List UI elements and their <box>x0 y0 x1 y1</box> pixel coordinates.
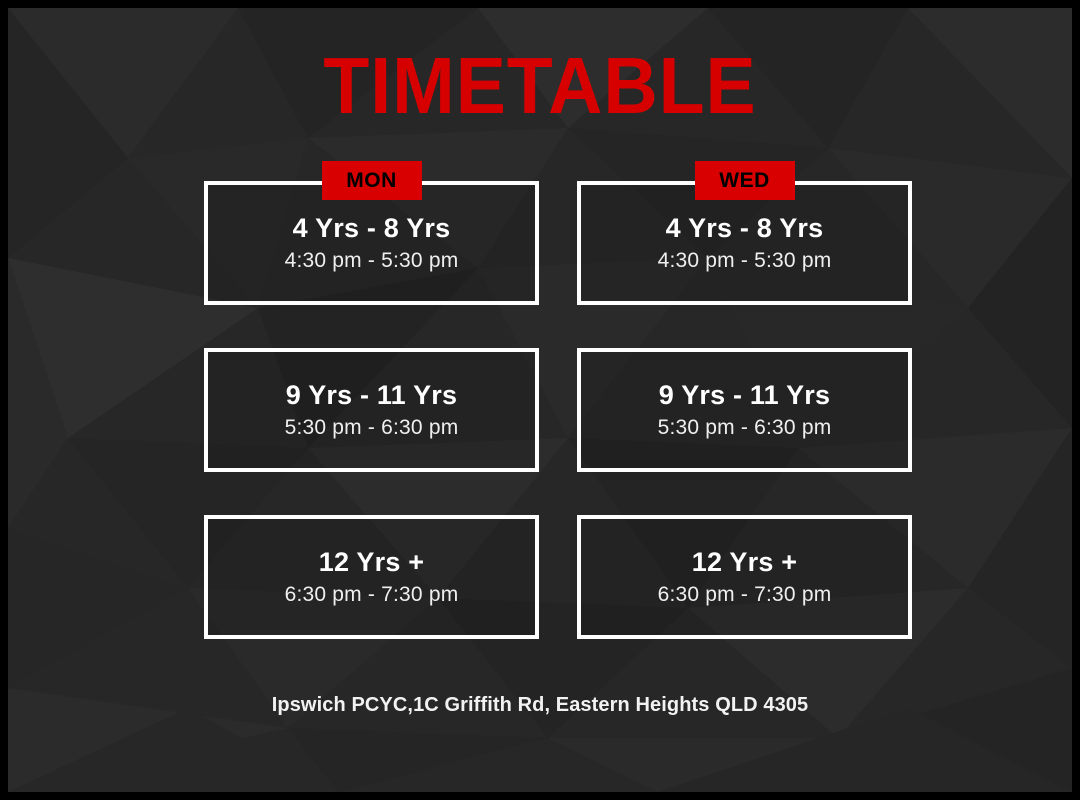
day-badge-mon: MON <box>322 161 422 200</box>
timetable-poster: TIMETABLE MON 4 Yrs - 8 Yrs 4:30 pm - 5:… <box>0 0 1080 800</box>
session-time: 4:30 pm - 5:30 pm <box>285 249 459 272</box>
session-card: 9 Yrs - 11 Yrs 5:30 pm - 6:30 pm <box>204 348 539 472</box>
session-card: 12 Yrs + 6:30 pm - 7:30 pm <box>577 515 912 639</box>
session-age-group: 9 Yrs - 11 Yrs <box>286 381 457 411</box>
venue-address: Ipswich PCYC,1C Griffith Rd, Eastern Hei… <box>8 694 1072 717</box>
session-time: 5:30 pm - 6:30 pm <box>285 416 459 439</box>
day-badge-wed: WED <box>695 161 795 200</box>
session-age-group: 12 Yrs + <box>319 548 424 578</box>
timetable-grid: MON 4 Yrs - 8 Yrs 4:30 pm - 5:30 pm WED … <box>204 181 912 639</box>
session-card: WED 4 Yrs - 8 Yrs 4:30 pm - 5:30 pm <box>577 181 912 305</box>
session-card: 9 Yrs - 11 Yrs 5:30 pm - 6:30 pm <box>577 348 912 472</box>
session-card: MON 4 Yrs - 8 Yrs 4:30 pm - 5:30 pm <box>204 181 539 305</box>
session-age-group: 12 Yrs + <box>692 548 797 578</box>
session-age-group: 9 Yrs - 11 Yrs <box>659 381 830 411</box>
session-age-group: 4 Yrs - 8 Yrs <box>666 214 824 244</box>
session-card: 12 Yrs + 6:30 pm - 7:30 pm <box>204 515 539 639</box>
session-age-group: 4 Yrs - 8 Yrs <box>293 214 451 244</box>
session-time: 6:30 pm - 7:30 pm <box>658 583 832 606</box>
page-title: TIMETABLE <box>40 46 1040 126</box>
session-time: 4:30 pm - 5:30 pm <box>658 249 832 272</box>
session-time: 5:30 pm - 6:30 pm <box>658 416 832 439</box>
session-time: 6:30 pm - 7:30 pm <box>285 583 459 606</box>
